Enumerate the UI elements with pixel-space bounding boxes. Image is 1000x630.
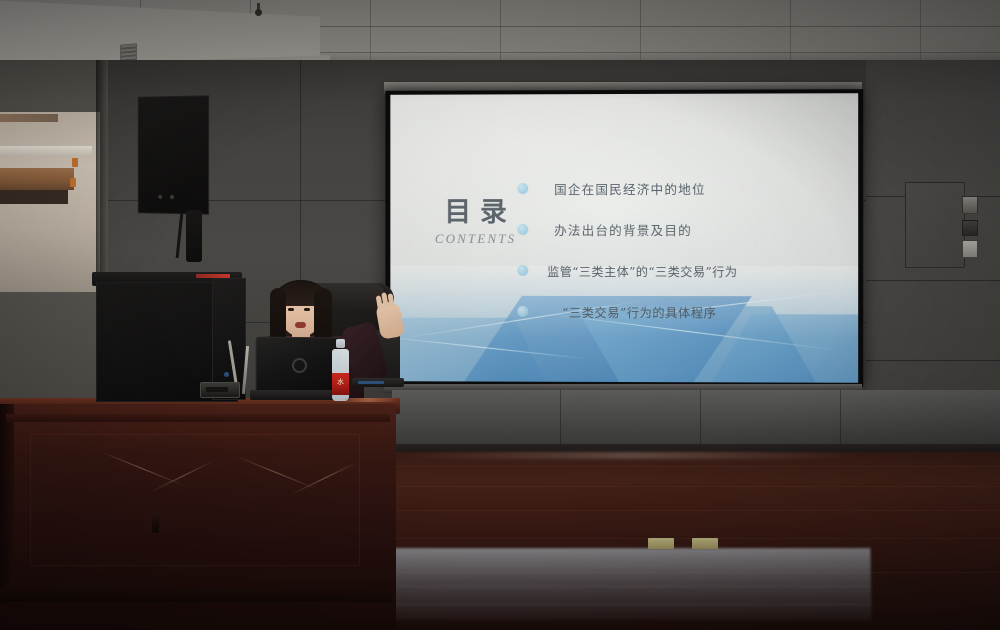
bullet-dot-icon	[517, 265, 528, 276]
wall-switch-plate-1[interactable]	[962, 196, 978, 214]
bullet-text: “三类交易”行为的具体程序	[562, 302, 716, 320]
slide-bullet-item: 办法出台的背景及目的	[517, 209, 854, 250]
speaker-cable-bundle	[186, 210, 202, 262]
presenter-hand	[375, 300, 405, 340]
doorway-shelf	[0, 146, 92, 156]
bullet-dot-icon	[517, 306, 528, 317]
lower-wall-panels	[392, 390, 1000, 448]
slide-bullet-item: 国企在国民经济中的地位	[517, 168, 854, 209]
desk-edge-highlight	[340, 398, 398, 402]
bullet-dot-icon	[517, 183, 528, 194]
projection-screen: 目录 CONTENTS 国企在国民经济中的地位 办法出台的背景及目的 监管“三类…	[385, 89, 863, 387]
slide-bullet-item: “三类交易”行为的具体程序	[517, 291, 854, 333]
screen-floor-reflection	[392, 548, 871, 620]
doorway-beam	[0, 168, 74, 190]
control-box-slot	[206, 387, 228, 392]
sprinkler-head-icon	[255, 3, 262, 16]
doorway-recess	[0, 190, 68, 204]
presentation-slide: 目录 CONTENTS 国企在国民经济中的地位 办法出台的背景及目的 监管“三类…	[390, 93, 858, 383]
podium-lip	[6, 414, 390, 422]
wall-switch-plate-2[interactable]	[962, 220, 978, 236]
wall-speaker	[138, 95, 209, 214]
wall-switch-plate-3[interactable]	[962, 240, 978, 258]
water-bottle: 水	[332, 339, 349, 401]
presenter-eye-right	[304, 308, 310, 311]
podium-lock[interactable]	[152, 516, 159, 533]
slide-bullet-item: 监管“三类主体”的“三类交易”行为	[517, 250, 854, 291]
floor-highlight	[400, 452, 860, 459]
podium-base	[0, 588, 392, 602]
doorway-light-2	[70, 178, 76, 187]
keyboard-indicator	[358, 381, 384, 384]
presenter-eye-left	[288, 308, 294, 311]
podium-side	[0, 404, 14, 604]
bullet-text: 办法出台的背景及目的	[554, 220, 692, 239]
podium-front-panel	[30, 434, 360, 566]
wall-panel	[905, 182, 965, 268]
bullet-dot-icon	[517, 224, 528, 235]
power-led-icon	[224, 372, 229, 377]
bullet-text: 监管“三类主体”的“三类交易”行为	[547, 261, 737, 279]
presenter-mouth	[295, 322, 306, 328]
bottle-cap	[336, 339, 345, 348]
slide-contents-list: 国企在国民经济中的地位 办法出台的背景及目的 监管“三类主体”的“三类交易”行为…	[517, 168, 854, 333]
conference-room-scene: 目录 CONTENTS 国企在国民经济中的地位 办法出台的背景及目的 监管“三类…	[0, 0, 1000, 630]
doorway-light-1	[72, 158, 78, 167]
laptop-logo-icon	[292, 358, 307, 373]
floor-object-1	[648, 538, 674, 549]
bottle-label-text: 水	[332, 377, 349, 387]
doorway-trim	[0, 114, 58, 122]
bullet-text: 国企在国民经济中的地位	[554, 179, 706, 198]
floor-object-2	[692, 538, 718, 549]
